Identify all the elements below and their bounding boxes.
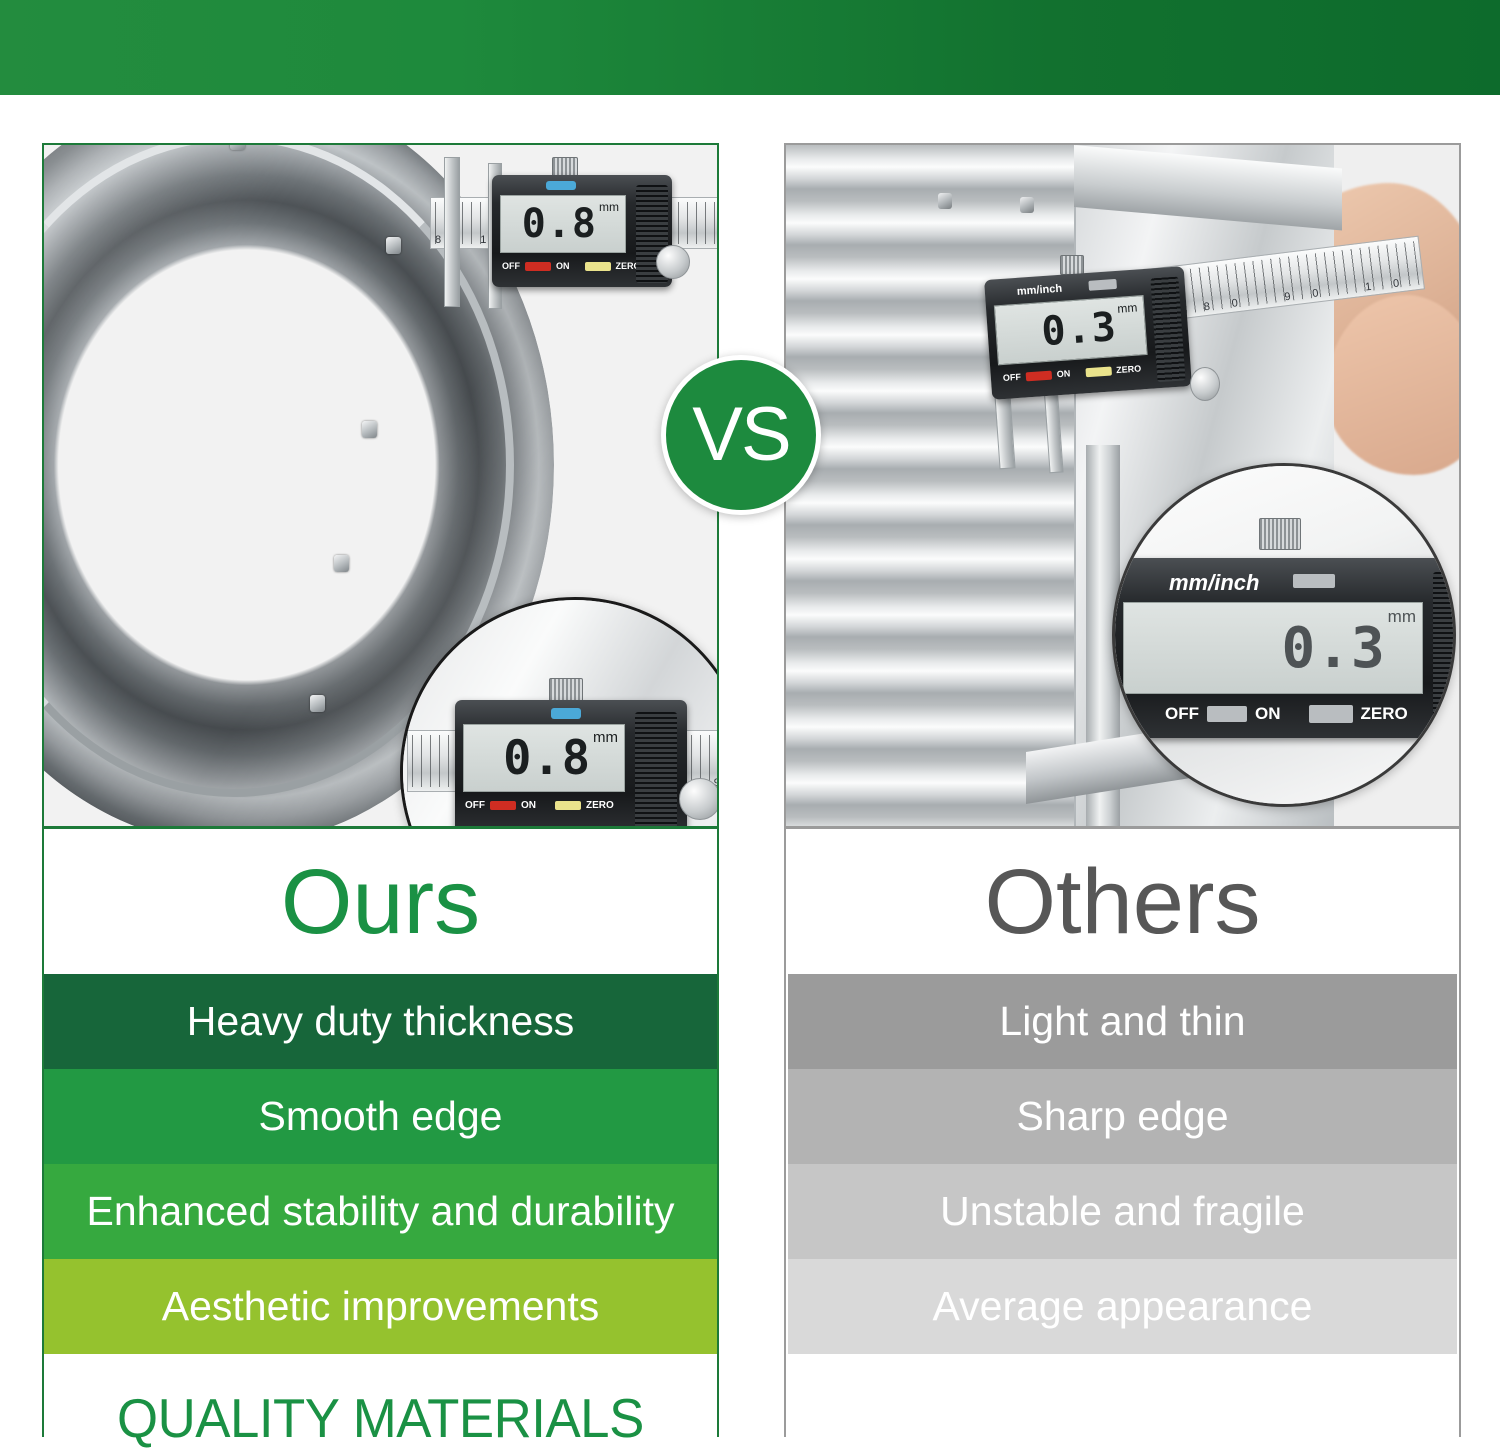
- caliper-unit: mm: [1117, 301, 1138, 316]
- bolt-icon: [1020, 197, 1034, 213]
- caliper-button-row: OFF ON ZERO: [465, 800, 614, 811]
- ours-title: Ours: [281, 856, 480, 948]
- feature-row: Heavy duty thickness: [44, 974, 717, 1069]
- caliper-off-label: OFF: [1165, 704, 1199, 724]
- caliper-lcd-screen: 0.3 mm: [1123, 602, 1423, 694]
- caliper-unit: mm: [1388, 607, 1416, 627]
- feature-row: Unstable and fragile: [788, 1164, 1457, 1259]
- caliper-reading: 0.3: [1282, 616, 1386, 681]
- bolt-icon: [362, 421, 377, 438]
- feature-row: Average appearance: [788, 1259, 1457, 1354]
- ours-panel: 80 100 110 0.8 mm OFF ON: [42, 143, 719, 1437]
- caliper-display-housing: mm/inch 0.3 mm OFF ON ZERO: [984, 266, 1192, 400]
- ours-footer-band: QUALITY MATERIALS: [44, 1354, 717, 1455]
- ours-feature-list: Heavy duty thickness Smooth edge Enhance…: [44, 974, 717, 1354]
- caliper-on-label: ON: [1255, 704, 1281, 724]
- caliper-zero-switch[interactable]: [585, 262, 611, 271]
- comparison-infographic: 80 100 110 0.8 mm OFF ON: [0, 0, 1500, 1455]
- feature-row: Light and thin: [788, 974, 1457, 1069]
- others-feature-list: Light and thin Sharp edge Unstable and f…: [786, 974, 1459, 1354]
- caliper-reading: 0.3: [1040, 304, 1118, 355]
- caliper-fixed-jaw: [444, 157, 460, 307]
- caliper-thumbwheel: [1259, 518, 1301, 550]
- caliper-off-label: OFF: [465, 800, 485, 811]
- caliper-unit: mm: [593, 729, 618, 746]
- caliper-power-switch[interactable]: [490, 801, 516, 810]
- caliper-mode-button[interactable]: [551, 708, 581, 719]
- ours-magnifier-inset: 90 0.8 mm OFF ON: [400, 597, 717, 829]
- caliper-on-label: ON: [1056, 368, 1070, 379]
- feature-row: Smooth edge: [44, 1069, 717, 1164]
- others-panel: 70 80 90 100 110 120 mm/inch 0.3 mm OFF: [784, 143, 1461, 1437]
- caliper-roller-wheel[interactable]: [1190, 367, 1220, 401]
- caliper-display-housing: 0.8 mm OFF ON ZERO: [455, 700, 687, 829]
- others-title-band: Others: [786, 829, 1459, 974]
- caliper-mode-button[interactable]: [1088, 279, 1117, 291]
- caliper-grip: [1433, 572, 1456, 722]
- digital-caliper-left: 80 100 110 0.8 mm OFF ON: [392, 149, 717, 349]
- vs-label: VS: [692, 397, 789, 473]
- digital-caliper-right: 70 80 90 100 110 120 mm/inch 0.3 mm OFF: [1004, 263, 1424, 443]
- caliper-display-housing: mm/inch 0.3 mm OFF ON ZERO: [1112, 558, 1456, 738]
- feature-row: Sharp edge: [788, 1069, 1457, 1164]
- corrugated-sheet-image: [786, 145, 1096, 829]
- feature-row: Aesthetic improvements: [44, 1259, 717, 1354]
- digital-caliper-left-zoom: 90 0.8 mm OFF ON: [407, 660, 717, 829]
- caliper-power-switch[interactable]: [1026, 370, 1053, 381]
- caliper-off-label: OFF: [502, 261, 520, 271]
- caliper-display-housing: 0.8 mm OFF ON ZERO: [492, 175, 672, 287]
- bolt-icon: [334, 555, 349, 572]
- caliper-grip: [635, 712, 677, 828]
- caliper-roller-wheel[interactable]: [679, 778, 717, 820]
- others-footer-band: [786, 1354, 1459, 1455]
- caliper-roller-wheel[interactable]: [656, 245, 690, 279]
- caliper-unit: mm: [599, 200, 619, 214]
- caliper-zero-label: ZERO: [1116, 363, 1142, 375]
- digital-caliper-right-zoom: mm/inch 0.3 mm OFF ON ZERO: [1112, 518, 1456, 778]
- caliper-zero-switch[interactable]: [555, 801, 581, 810]
- caliper-power-switch[interactable]: [525, 262, 551, 271]
- caliper-reading: 0.8: [522, 201, 597, 247]
- caliper-on-label: ON: [521, 800, 536, 811]
- caliper-button-row: OFF ON ZERO: [1003, 363, 1142, 383]
- caliper-mode-label: mm/inch: [1017, 283, 1063, 298]
- caliper-reading: 0.8: [503, 731, 591, 786]
- caliper-on-label: ON: [556, 261, 570, 271]
- quality-materials-tagline: QUALITY MATERIALS: [117, 1386, 644, 1450]
- others-title: Others: [984, 856, 1260, 948]
- caliper-button-row: OFF ON ZERO: [1165, 704, 1408, 724]
- caliper-zero-label: ZERO: [1361, 704, 1408, 724]
- bolt-icon: [230, 145, 245, 150]
- caliper-button-row: OFF ON ZERO: [502, 261, 641, 271]
- bolt-icon: [310, 695, 325, 712]
- caliper-zero-switch[interactable]: [1309, 705, 1353, 723]
- bolt-icon: [938, 193, 952, 209]
- caliper-power-switch[interactable]: [1207, 706, 1247, 722]
- feature-row: Enhanced stability and durability: [44, 1164, 717, 1259]
- ours-title-band: Ours: [44, 829, 717, 974]
- others-magnifier-inset: mm/inch 0.3 mm OFF ON ZERO: [1112, 463, 1456, 807]
- others-product-photo: 70 80 90 100 110 120 mm/inch 0.3 mm OFF: [786, 145, 1459, 829]
- caliper-grip: [1150, 277, 1185, 383]
- caliper-mode-label: mm/inch: [1169, 570, 1259, 596]
- caliper-lcd-screen: 0.3 mm: [994, 295, 1148, 365]
- top-green-banner: [0, 0, 1500, 95]
- caliper-lcd-screen: 0.8 mm: [463, 724, 625, 792]
- caliper-mode-button[interactable]: [546, 181, 576, 190]
- caliper-lcd-screen: 0.8 mm: [500, 195, 626, 253]
- caliper-thumbwheel: [1060, 255, 1084, 275]
- caliper-mode-button[interactable]: [1293, 574, 1335, 588]
- vs-badge: VS: [661, 355, 821, 515]
- caliper-off-label: OFF: [1003, 372, 1022, 383]
- ours-product-photo: 80 100 110 0.8 mm OFF ON: [44, 145, 717, 829]
- caliper-zero-switch[interactable]: [1085, 366, 1112, 377]
- caliper-zero-label: ZERO: [586, 800, 614, 811]
